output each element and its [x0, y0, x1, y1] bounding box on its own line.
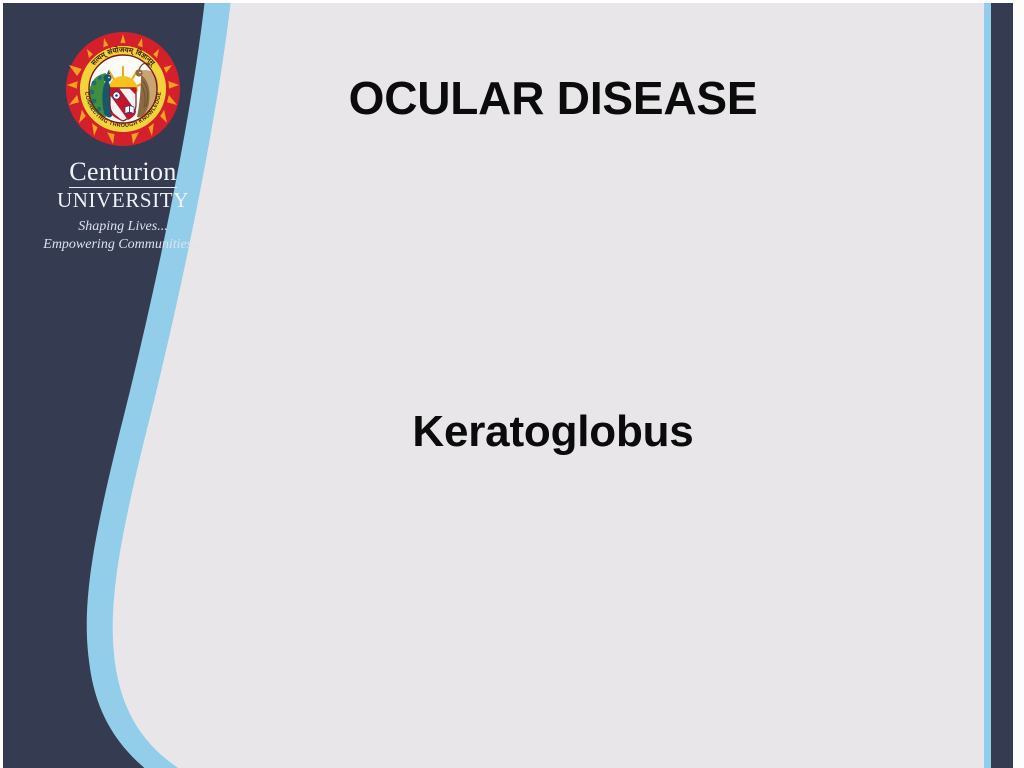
shield-device-atom [113, 92, 120, 99]
brand-tagline-line-1: Shaping Lives... [33, 218, 213, 236]
brand-wordmark: Centurion UNIVERSITY [33, 159, 213, 211]
page-right-margin [1013, 0, 1024, 768]
university-emblem-icon: सत्यम् संयोजयम् विज्ञानम् CONNECTING THR… [63, 31, 183, 149]
brand-name: Centurion [69, 159, 177, 188]
brand-tagline-line-2: Empowering Communities... [33, 236, 213, 254]
slide-title: OCULAR DISEASE [243, 74, 863, 122]
slide-surface: सत्यम् संयोजयम् विज्ञानम् CONNECTING THR… [3, 3, 1021, 768]
slide-subject-heading: Keratoglobus [243, 409, 863, 455]
shield-device-book [125, 106, 134, 114]
brand-tagline: Shaping Lives... Empowering Communities.… [33, 218, 213, 255]
brand-name-secondary: UNIVERSITY [33, 190, 213, 211]
presentation-slide: सत्यम् संयोजयम् विज्ञानम् CONNECTING THR… [0, 0, 1024, 768]
university-branding: सत्यम् संयोजयम् विज्ञानम् CONNECTING THR… [33, 31, 213, 255]
right-accent-stripe [984, 3, 991, 768]
crest-shield [110, 88, 136, 121]
